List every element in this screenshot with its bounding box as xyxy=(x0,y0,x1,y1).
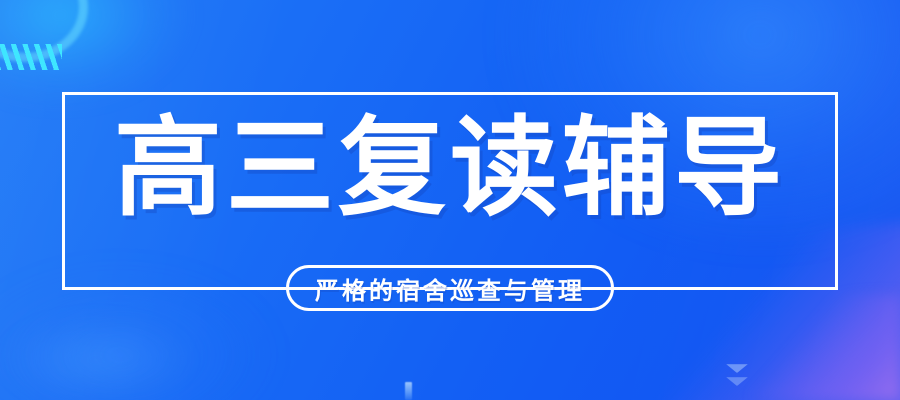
promo-banner: 高三复读辅导 严格的宿舍巡查与管理 xyxy=(0,0,900,400)
chevron-down-icon-2 xyxy=(726,377,748,386)
subtitle-row: 严格的宿舍巡查与管理 xyxy=(0,265,900,311)
double-chevron-down-icon xyxy=(726,364,752,394)
chevron-down-icon-1 xyxy=(726,364,748,373)
tick-mark-icon xyxy=(405,382,412,400)
subtitle-rule-right xyxy=(614,287,747,290)
diagonal-stripes-icon xyxy=(0,44,62,70)
subtitle-rule-left xyxy=(153,287,286,290)
page-title: 高三复读辅导 xyxy=(0,112,900,224)
subtitle-badge: 严格的宿舍巡查与管理 xyxy=(286,265,614,311)
